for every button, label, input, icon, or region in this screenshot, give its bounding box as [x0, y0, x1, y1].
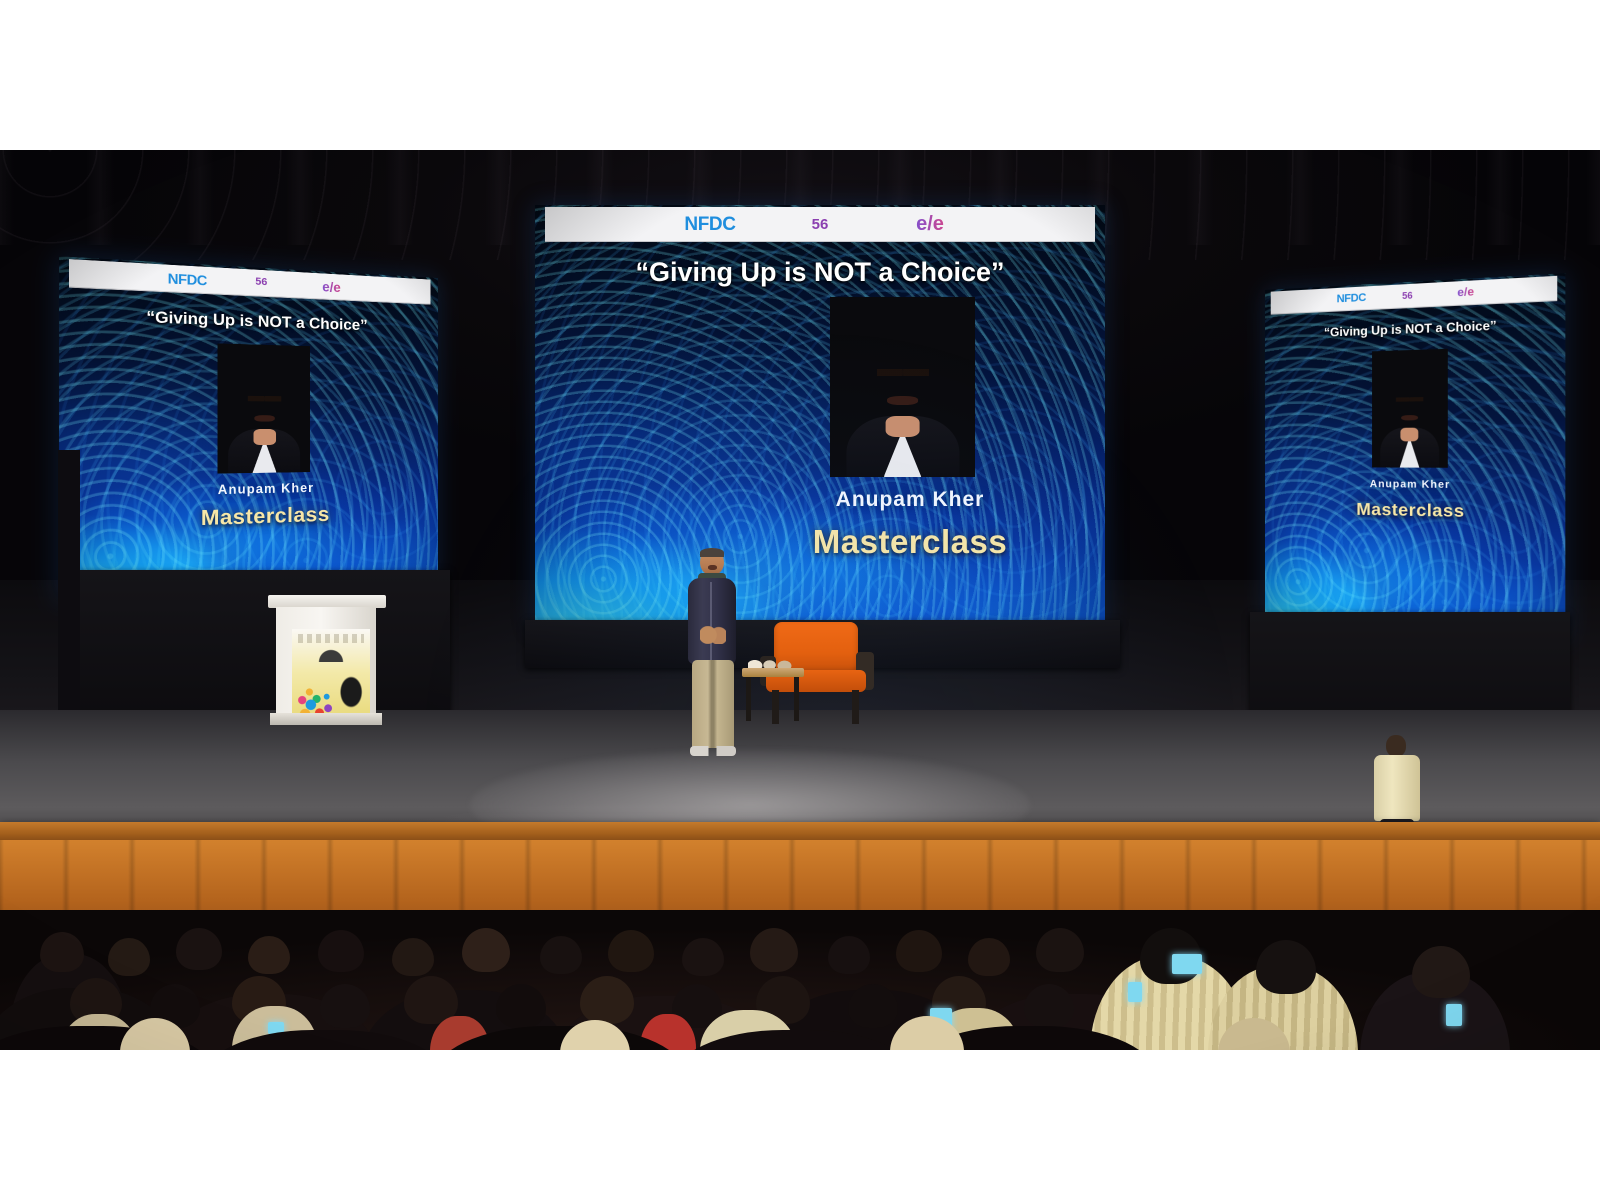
- audience-head: [392, 938, 434, 976]
- speaker-mouth: [708, 565, 717, 570]
- podium-festival-text: [298, 634, 364, 643]
- table-top: [742, 668, 804, 677]
- left-led-screen: NFDC 56 e/e “Giving Up is NOT a Choice” …: [59, 256, 438, 599]
- audience-head: [1024, 984, 1074, 1028]
- speaker-hands: [700, 626, 726, 644]
- audience-head: [318, 930, 364, 972]
- podium: [268, 595, 386, 727]
- audience-seating: [0, 910, 1600, 1050]
- attendant-shirt: [1374, 755, 1420, 821]
- audience-head: [40, 932, 84, 972]
- audience-head: [176, 928, 222, 970]
- speaker-jacket-zipper: [710, 582, 712, 660]
- audience-head: [580, 976, 634, 1024]
- phone-screen: [1172, 954, 1202, 974]
- audience-head: [108, 938, 150, 976]
- phone-screen: [1446, 1004, 1462, 1026]
- center-screen-vignette: [535, 205, 1105, 630]
- podium-emblem-icon: [314, 645, 348, 662]
- audience-head: [248, 936, 290, 974]
- audience-head: [682, 938, 724, 976]
- audience-head: [496, 984, 546, 1028]
- audience-head: [968, 938, 1010, 976]
- center-led-screen: NFDC 56 e/e “Giving Up is NOT a Choice” …: [535, 205, 1105, 630]
- speaker-jacket: [688, 578, 736, 664]
- table-right-leg: [794, 677, 799, 721]
- event-photograph: NFDC 56 e/e “Giving Up is NOT a Choice” …: [0, 150, 1600, 1050]
- audience-head: [828, 936, 870, 974]
- attendant-head: [1386, 735, 1406, 757]
- speaker-standing: [684, 548, 742, 760]
- photographer-head: [1256, 940, 1316, 994]
- speaker-shoes: [690, 746, 736, 756]
- image-canvas: NFDC 56 e/e “Giving Up is NOT a Choice” …: [0, 0, 1600, 1200]
- phone-screen: [1128, 982, 1142, 1002]
- left-screen-vignette: [59, 256, 438, 599]
- audience-head: [896, 930, 942, 972]
- audience-head: [462, 928, 510, 972]
- audience-head: [750, 928, 798, 972]
- audience-head: [1412, 946, 1470, 998]
- speaker-trousers: [692, 660, 734, 748]
- side-table: [742, 668, 804, 723]
- right-screen-vignette: [1265, 273, 1565, 637]
- speaker-hair: [700, 548, 724, 557]
- podium-front-panel: [292, 629, 370, 721]
- left-screen-truss: [58, 450, 80, 750]
- audience-head: [608, 930, 654, 972]
- audience-head: [320, 984, 370, 1028]
- podium-body: [276, 607, 376, 715]
- audience-head: [540, 936, 582, 974]
- right-led-screen: NFDC 56 e/e “Giving Up is NOT a Choice” …: [1265, 273, 1565, 637]
- audience-head: [1036, 928, 1084, 972]
- audience-head: [848, 984, 898, 1028]
- podium-base: [270, 713, 382, 725]
- table-left-leg: [746, 677, 751, 721]
- chair-right-leg: [852, 690, 859, 724]
